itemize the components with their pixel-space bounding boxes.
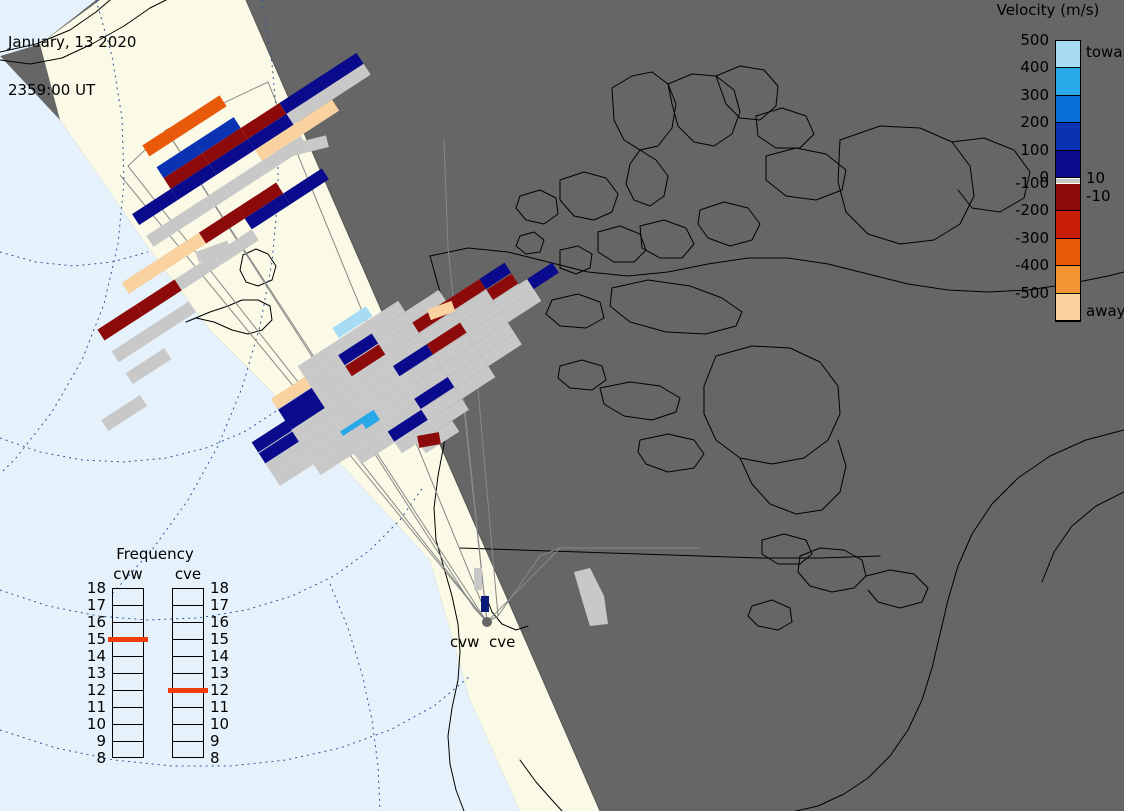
- frequency-cell: [173, 691, 203, 708]
- colorbar-tick-500: 500: [989, 32, 1049, 48]
- colorbar-tick--300: -300: [989, 230, 1049, 246]
- frequency-cell: [173, 657, 203, 674]
- colorbar-band-7: [1056, 211, 1080, 238]
- frequency-scale-label: 11: [210, 699, 232, 715]
- frequency-legend-title: Frequency: [90, 546, 220, 563]
- colorbar-tick--200: -200: [989, 202, 1049, 218]
- frequency-scale-label: 15: [210, 631, 232, 647]
- frequency-scale-label: 10: [84, 716, 106, 732]
- frequency-cell: [113, 725, 143, 742]
- frequency-scale-label: 12: [210, 682, 232, 698]
- frequency-scale-label: 11: [84, 699, 106, 715]
- timestamp: January, 13 2020 2359:00 UT: [8, 2, 136, 130]
- frequency-scale-label: 13: [210, 665, 232, 681]
- frequency-scale-label: 8: [84, 750, 106, 766]
- frequency-box-cvw: [112, 588, 144, 758]
- radar-site-label-cvw: cvw: [450, 634, 479, 650]
- colorbar-neutral-lower-label: -10: [1086, 188, 1111, 204]
- colorbar-band-4: [1056, 151, 1080, 178]
- colorbar-band-6: [1056, 184, 1080, 211]
- timestamp-time: 2359:00 UT: [8, 82, 136, 98]
- colorbar-tick-labels: 5004003002001000-100-200-300-400-500: [985, 30, 1049, 330]
- frequency-box-cve: [172, 588, 204, 758]
- colorbar-tick-400: 400: [989, 59, 1049, 75]
- frequency-cell: [173, 640, 203, 657]
- frequency-cell: [173, 589, 203, 606]
- colorbar-away-label: away: [1086, 303, 1124, 319]
- frequency-scale-label: 16: [210, 614, 232, 630]
- colorbar-tick--100: -100: [989, 175, 1049, 191]
- frequency-scale-label: 14: [84, 648, 106, 664]
- frequency-scale-label: 9: [84, 733, 106, 749]
- colorbar-band-9: [1056, 266, 1080, 293]
- colorbar-band-2: [1056, 96, 1080, 123]
- frequency-scale-label: 18: [84, 580, 106, 596]
- frequency-cell: [173, 742, 203, 759]
- frequency-legend: Frequency cvw cve 1817161514131211109818…: [90, 546, 238, 786]
- frequency-cell: [173, 623, 203, 640]
- frequency-cell: [173, 708, 203, 725]
- frequency-cell: [113, 691, 143, 708]
- radar-site-label-cve: cve: [489, 634, 515, 650]
- colorbar-tick-300: 300: [989, 87, 1049, 103]
- colorbar-neutral-upper-label: 10: [1086, 170, 1105, 186]
- timestamp-date: January, 13 2020: [8, 34, 136, 50]
- colorbar-tick--400: -400: [989, 257, 1049, 273]
- frequency-marker-cvw: [108, 637, 148, 642]
- radar-site-code-cvw: cvw: [450, 633, 479, 651]
- frequency-cell: [173, 606, 203, 623]
- radar-site-marker: [482, 617, 492, 627]
- frequency-cell: [113, 657, 143, 674]
- colorbar-band-1: [1056, 68, 1080, 95]
- frequency-marker-cve: [168, 688, 208, 693]
- frequency-column-label-cvw: cvw: [106, 566, 150, 582]
- colorbar-tick-200: 200: [989, 114, 1049, 130]
- frequency-scale-label: 16: [84, 614, 106, 630]
- radar-map-screenshot: January, 13 2020 2359:00 UT cvw cve Velo…: [0, 0, 1124, 811]
- frequency-scale-label: 9: [210, 733, 232, 749]
- frequency-cell: [113, 640, 143, 657]
- frequency-cell: [173, 725, 203, 742]
- colorbar-tick--500: -500: [989, 285, 1049, 301]
- frequency-scale-label: 12: [84, 682, 106, 698]
- frequency-cell: [113, 589, 143, 606]
- frequency-cell: [113, 708, 143, 725]
- colorbar-toward-label: toward: [1086, 44, 1124, 60]
- scatter-cell-isolated-gray-site: [474, 568, 482, 590]
- frequency-scale-label: 18: [210, 580, 232, 596]
- frequency-scale-label: 13: [84, 665, 106, 681]
- colorbar-band-0: [1056, 41, 1080, 68]
- colorbar-band-8: [1056, 239, 1080, 266]
- colorbar-gradient: [1055, 40, 1081, 322]
- colorbar-tick-100: 100: [989, 142, 1049, 158]
- frequency-column-label-cve: cve: [166, 566, 210, 582]
- frequency-scale-label: 17: [84, 597, 106, 613]
- frequency-cell: [113, 674, 143, 691]
- radar-site-code-cve: cve: [489, 633, 515, 651]
- frequency-cell: [113, 742, 143, 759]
- colorbar-title: Velocity (m/s): [975, 2, 1121, 18]
- frequency-cell: [113, 606, 143, 623]
- colorbar-band-3: [1056, 123, 1080, 150]
- frequency-scale-label: 10: [210, 716, 232, 732]
- scatter-cell-isolated-navy: [481, 596, 489, 612]
- colorbar-band-10: [1056, 294, 1080, 321]
- frequency-scale-label: 8: [210, 750, 232, 766]
- frequency-scale-label: 17: [210, 597, 232, 613]
- frequency-scale-label: 15: [84, 631, 106, 647]
- frequency-scale-label: 14: [210, 648, 232, 664]
